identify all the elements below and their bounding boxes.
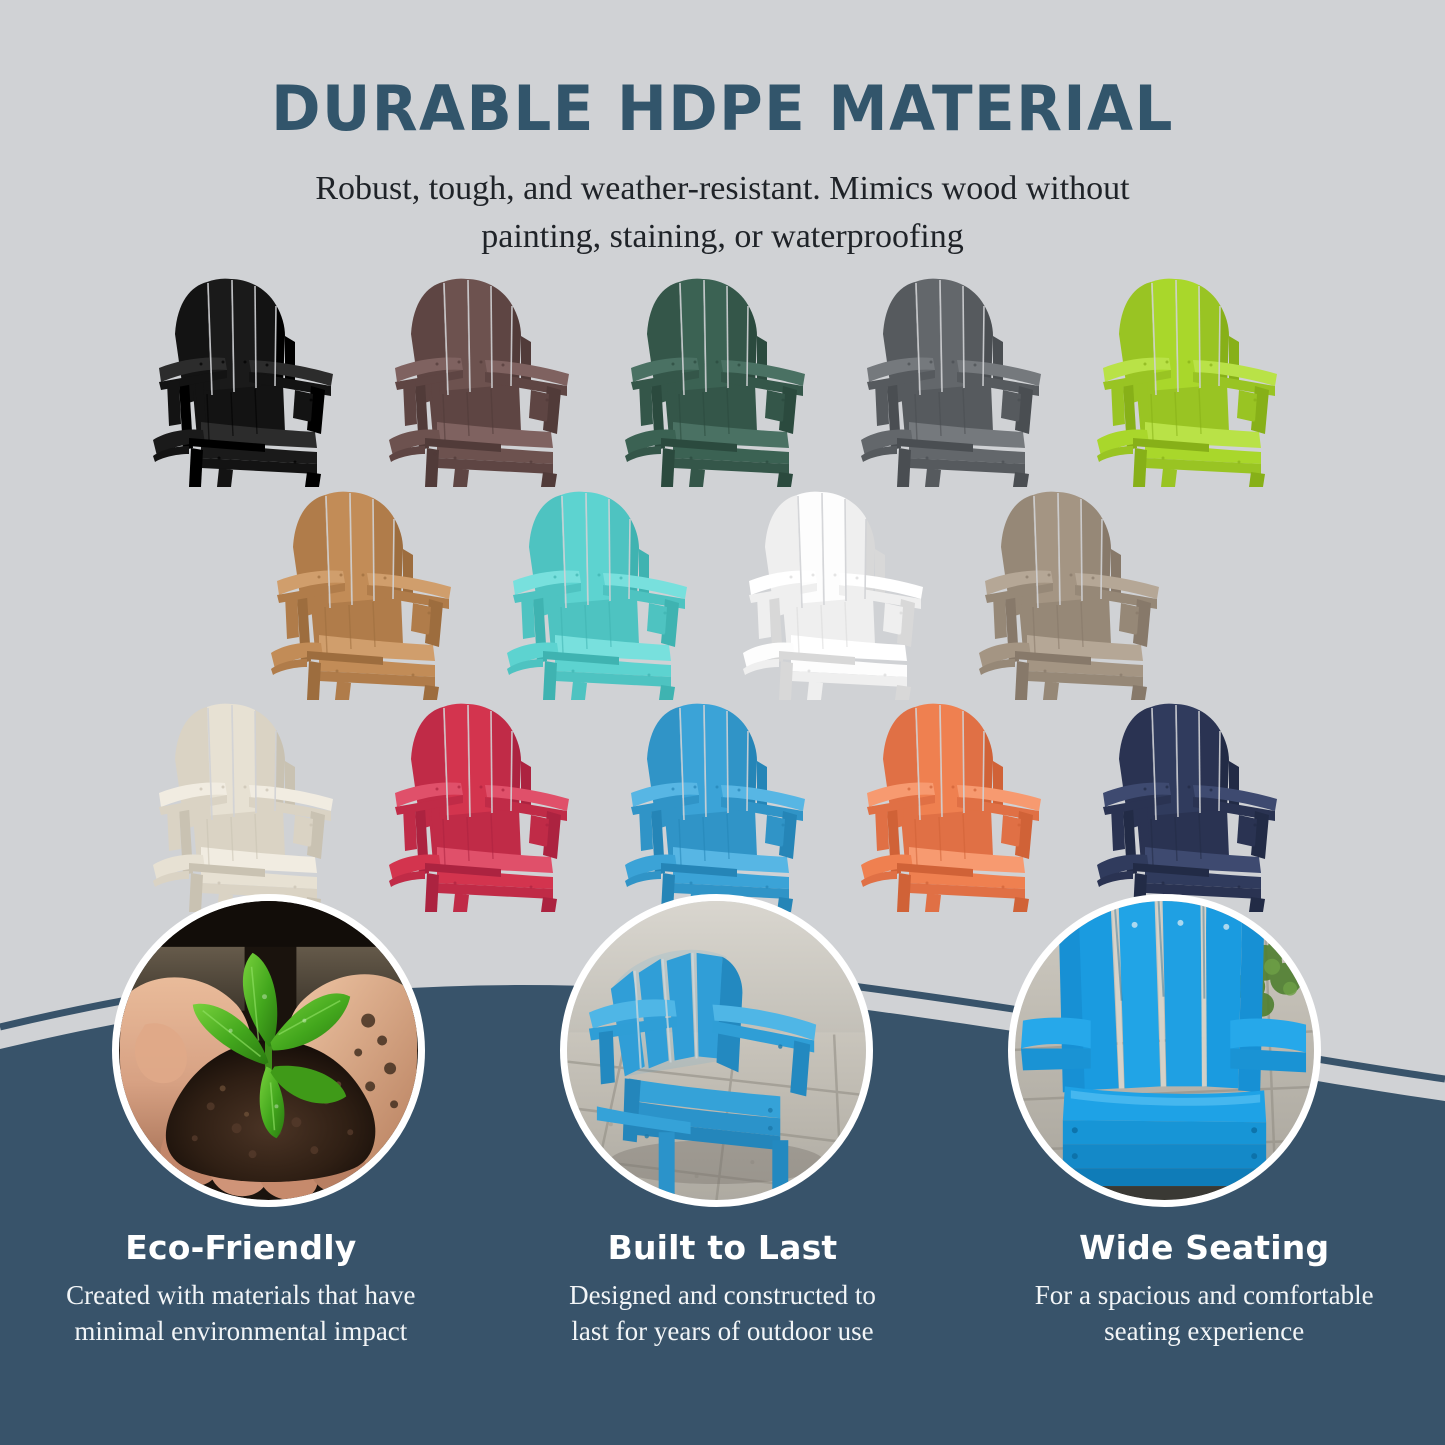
feature-circle-wide-seating [1008, 894, 1321, 1207]
adirondack-chair-icon [145, 272, 357, 487]
circle-clip [567, 901, 866, 1200]
feature-description: For a spacious and comfortable seating e… [981, 1277, 1427, 1349]
feature-circle-built-to-last [560, 894, 873, 1207]
chair-row-3 [0, 697, 1445, 912]
adirondack-chair-icon [1089, 697, 1301, 912]
feature-title: Wide Seating [981, 1228, 1427, 1267]
adirondack-chair-icon [381, 272, 593, 487]
feature-eco-friendly: Eco-Friendly Created with materials that… [0, 1228, 482, 1349]
chair-swatch-blue[interactable] [605, 697, 841, 912]
infographic-page: DURABLE HDPE MATERIAL Robust, tough, and… [0, 0, 1445, 1445]
adirondack-chair-icon [1089, 272, 1301, 487]
chair-swatch-black[interactable] [133, 272, 369, 487]
chair-swatch-brown[interactable] [369, 272, 605, 487]
adirondack-chair-icon [499, 485, 711, 700]
feature-circle-eco-friendly [112, 894, 425, 1207]
feature-description: Designed and constructed to last for yea… [500, 1277, 946, 1349]
subtitle-line-1: Robust, tough, and weather-resistant. Mi… [223, 165, 1223, 213]
chair-row-2 [0, 485, 1445, 700]
adirondack-chair-icon [971, 485, 1183, 700]
feature-desc-line-2: minimal environmental impact [74, 1316, 407, 1346]
header: DURABLE HDPE MATERIAL Robust, tough, and… [0, 0, 1445, 261]
chair-swatch-turquoise[interactable] [487, 485, 723, 700]
adirondack-chair-icon [263, 485, 475, 700]
chair-swatch-red[interactable] [369, 697, 605, 912]
feature-title: Built to Last [500, 1228, 946, 1267]
chair-swatch-dark-green[interactable] [605, 272, 841, 487]
feature-desc-line-1: Designed and constructed to [569, 1280, 876, 1310]
hands-holding-seedling-icon [119, 901, 418, 1200]
adirondack-chair-icon [853, 697, 1065, 912]
feature-desc-line-1: For a spacious and comfortable [1035, 1280, 1374, 1310]
chair-swatch-teak[interactable] [251, 485, 487, 700]
chair-swatch-ivory[interactable] [133, 697, 369, 912]
adirondack-chair-icon [617, 272, 829, 487]
blue-chair-wide-seat-closeup-icon [1015, 901, 1314, 1200]
blue-adirondack-chair-photo-icon [567, 901, 866, 1200]
circle-clip [119, 901, 418, 1200]
feature-description: Created with materials that have minimal… [18, 1277, 464, 1349]
chair-swatch-white[interactable] [723, 485, 959, 700]
chair-swatch-gray[interactable] [841, 272, 1077, 487]
feature-list: Eco-Friendly Created with materials that… [0, 1228, 1445, 1349]
chair-row-1 [0, 272, 1445, 487]
feature-desc-line-2: last for years of outdoor use [571, 1316, 873, 1346]
feature-title: Eco-Friendly [18, 1228, 464, 1267]
chair-color-grid [0, 272, 1445, 912]
chair-swatch-lime-green[interactable] [1077, 272, 1313, 487]
chair-swatch-weathered-wood[interactable] [959, 485, 1195, 700]
page-subtitle: Robust, tough, and weather-resistant. Mi… [223, 165, 1223, 262]
feature-desc-line-2: seating experience [1104, 1316, 1304, 1346]
chair-swatch-navy[interactable] [1077, 697, 1313, 912]
feature-image-circles [0, 888, 1445, 1218]
subtitle-line-2: painting, staining, or waterproofing [223, 213, 1223, 261]
feature-desc-line-1: Created with materials that have [66, 1280, 415, 1310]
adirondack-chair-icon [735, 485, 947, 700]
adirondack-chair-icon [853, 272, 1065, 487]
adirondack-chair-icon [617, 697, 829, 912]
circle-clip [1015, 901, 1314, 1200]
feature-built-to-last: Built to Last Designed and constructed t… [482, 1228, 964, 1349]
page-title: DURABLE HDPE MATERIAL [29, 76, 1416, 143]
chair-swatch-orange[interactable] [841, 697, 1077, 912]
adirondack-chair-icon [381, 697, 593, 912]
adirondack-chair-icon [145, 697, 357, 912]
feature-wide-seating: Wide Seating For a spacious and comforta… [963, 1228, 1445, 1349]
